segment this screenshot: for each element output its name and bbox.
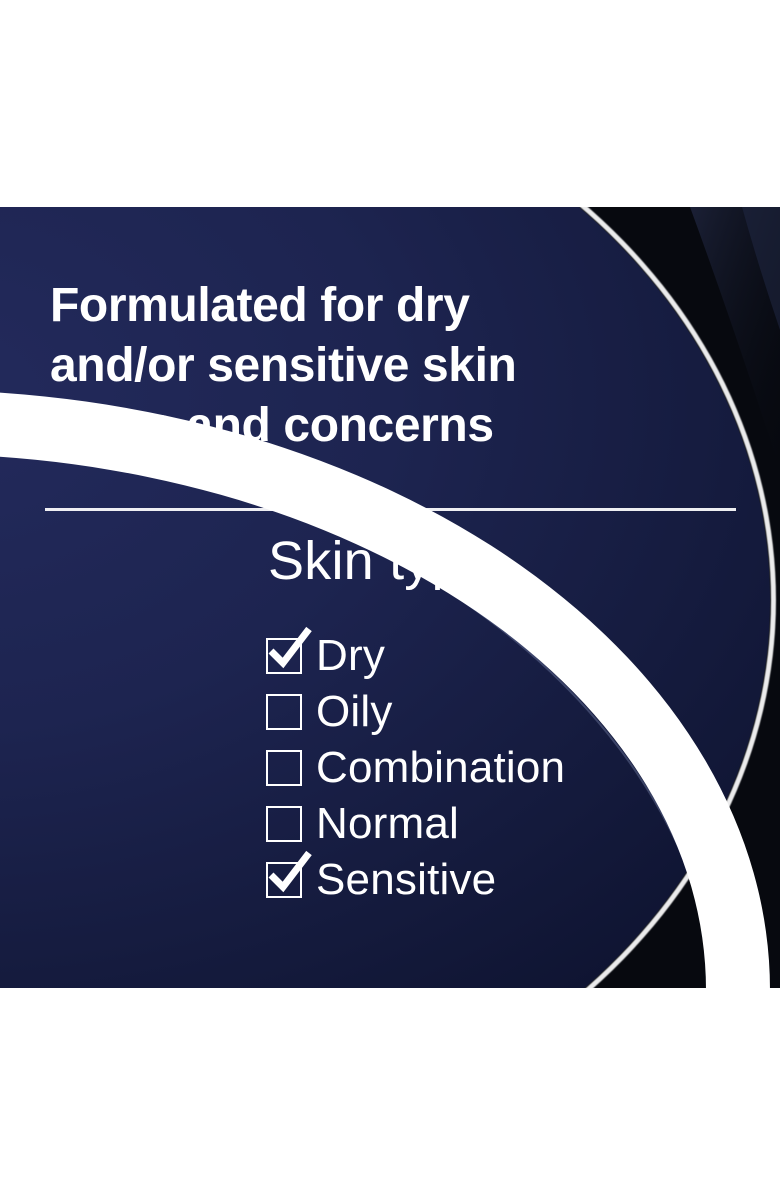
skin-type-checklist: Dry Oily Combination [266,628,736,908]
checklist-item-sensitive[interactable]: Sensitive [266,852,736,908]
checklist-item-dry[interactable]: Dry [266,628,736,684]
headline: Formulated for dry and/or sensitive skin… [50,276,650,456]
checklist-item-label: Normal [316,799,459,849]
checkbox-empty-icon[interactable] [266,750,302,786]
checklist-item-oily[interactable]: Oily [266,684,736,740]
checklist-item-combination[interactable]: Combination [266,740,736,796]
product-infographic-canvas: Formulated for dry and/or sensitive skin… [0,0,780,1196]
checklist-item-label: Oily [316,687,393,737]
section-title: Skin type [0,528,760,594]
headline-line-2: and/or sensitive skin [50,336,650,396]
headline-line-1: Formulated for dry [50,276,650,336]
checklist-item-label: Sensitive [316,855,496,905]
checklist-item-normal[interactable]: Normal [266,796,736,852]
headline-line-3: types and concerns [50,396,650,456]
checkbox-checked-icon[interactable] [266,862,302,898]
horizontal-divider [45,508,736,511]
checkbox-checked-icon[interactable] [266,638,302,674]
checklist-item-label: Combination [316,743,565,793]
checkbox-empty-icon[interactable] [266,694,302,730]
checkbox-empty-icon[interactable] [266,806,302,842]
checklist-item-label: Dry [316,631,385,681]
content-layer: Formulated for dry and/or sensitive skin… [0,0,780,1196]
